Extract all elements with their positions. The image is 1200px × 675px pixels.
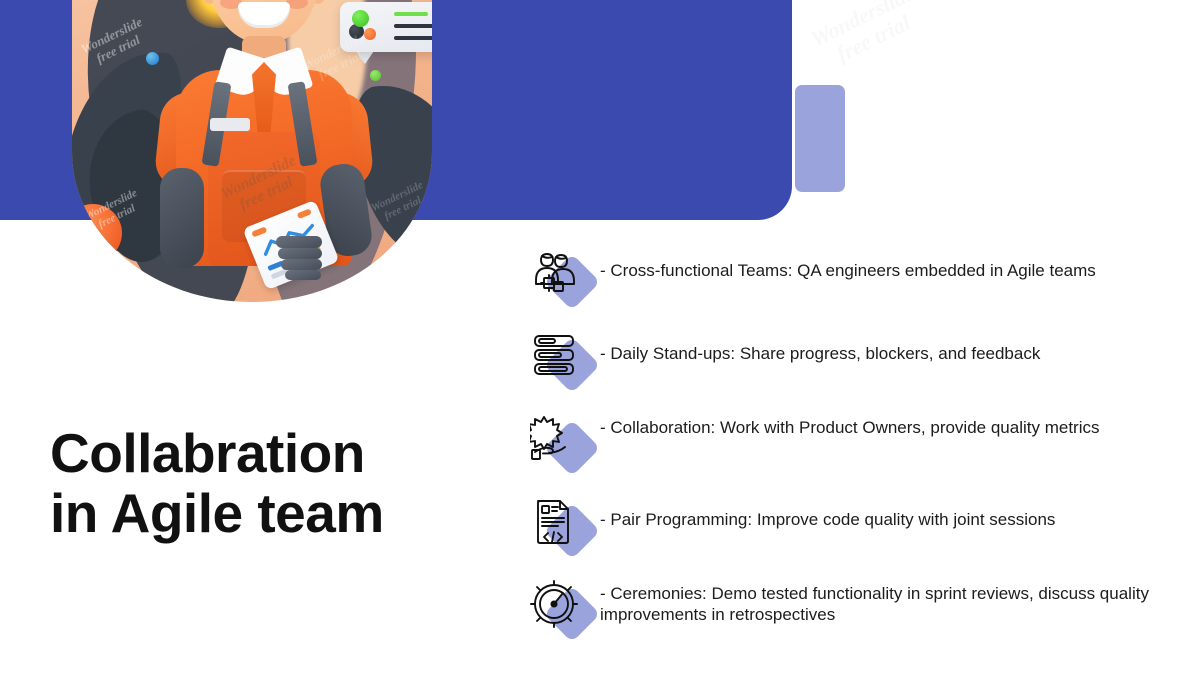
hand-star-quality-icon bbox=[530, 414, 580, 464]
chat-line-4 bbox=[394, 36, 432, 40]
bullet-icon-wrap bbox=[528, 497, 600, 559]
list-item-label: - Collaboration: Work with Product Owner… bbox=[600, 414, 1178, 438]
finger-2 bbox=[278, 248, 322, 259]
bullet-icon-wrap bbox=[528, 580, 600, 642]
list-item-label: - Cross-functional Teams: QA engineers e… bbox=[600, 248, 1178, 281]
finger-4 bbox=[285, 270, 321, 280]
illustration-card: Wonderslidefree trial Wonderslidefree tr… bbox=[72, 0, 432, 302]
list-item[interactable]: - Collaboration: Work with Product Owner… bbox=[528, 414, 1178, 476]
periwinkle-accent-rectangle bbox=[795, 85, 845, 192]
bullet-icon-wrap bbox=[528, 331, 600, 393]
orange-disc-decoration-2 bbox=[72, 204, 122, 262]
hero-illustration: Wonderslidefree trial Wonderslidefree tr… bbox=[72, 0, 472, 302]
code-document-icon bbox=[530, 497, 580, 547]
chat-avatar-orange bbox=[364, 28, 376, 40]
bullet-icon-wrap bbox=[528, 414, 600, 476]
finger-1 bbox=[276, 236, 322, 248]
title-line-1: Collabration bbox=[50, 423, 480, 483]
gauge-gear-icon bbox=[530, 580, 580, 630]
list-item[interactable]: - Pair Programming: Improve code quality… bbox=[528, 497, 1178, 559]
team-people-icon bbox=[530, 248, 580, 298]
character-name-badge bbox=[210, 118, 250, 131]
list-item[interactable]: - Daily Stand-ups: Share progress, block… bbox=[528, 331, 1178, 393]
character-arm-left bbox=[160, 168, 204, 268]
character-hand bbox=[274, 234, 328, 280]
watermark: Wonderslidefree trial bbox=[807, 0, 930, 75]
list-item-label: - Ceremonies: Demo tested functionality … bbox=[600, 580, 1178, 625]
green-dot-decoration bbox=[370, 70, 381, 81]
bullet-icon-wrap bbox=[528, 248, 600, 310]
list-item-label: - Pair Programming: Improve code quality… bbox=[600, 497, 1178, 530]
tablet-chip-right bbox=[297, 208, 312, 219]
chat-bubble bbox=[340, 2, 432, 52]
title-line-2: in Agile team bbox=[50, 483, 480, 543]
finger-3 bbox=[281, 259, 322, 270]
server-stack-icon bbox=[530, 331, 580, 381]
bullet-list: - Cross-functional Teams: QA engineers e… bbox=[528, 248, 1178, 663]
list-item-label: - Daily Stand-ups: Share progress, block… bbox=[600, 331, 1178, 364]
chat-line-1 bbox=[394, 12, 428, 16]
chat-avatar-green bbox=[352, 10, 369, 27]
slide-canvas: Wonderslidefree trial Wonderslidefree tr… bbox=[0, 0, 1200, 675]
chat-line-3 bbox=[394, 24, 432, 28]
page-title: Collabration in Agile team bbox=[50, 423, 480, 543]
list-item[interactable]: - Ceremonies: Demo tested functionality … bbox=[528, 580, 1178, 642]
list-item[interactable]: - Cross-functional Teams: QA engineers e… bbox=[528, 248, 1178, 310]
tablet-chip-left bbox=[251, 226, 267, 237]
